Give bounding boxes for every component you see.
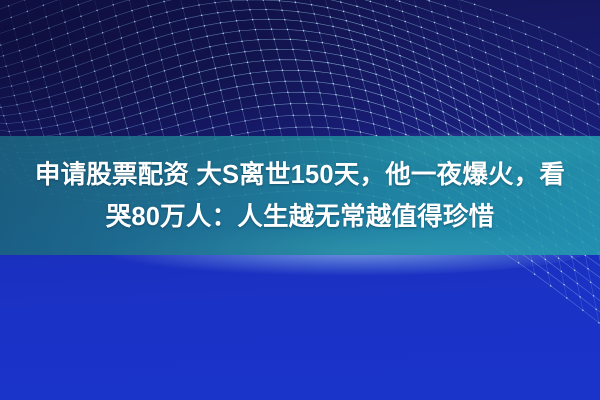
headline-line-2: 哭80万人：人生越无常越值得珍惜 [106,196,495,238]
headline-line-1: 申请股票配资 大S离世150天，他一夜爆火，看 [35,154,565,196]
page-title: 申请股票配资 大S离世150天，他一夜爆火，看 哭80万人：人生越无常越值得珍惜 [0,136,600,255]
article-banner: 申请股票配资 大S离世150天，他一夜爆火，看 哭80万人：人生越无常越值得珍惜 [0,0,600,400]
